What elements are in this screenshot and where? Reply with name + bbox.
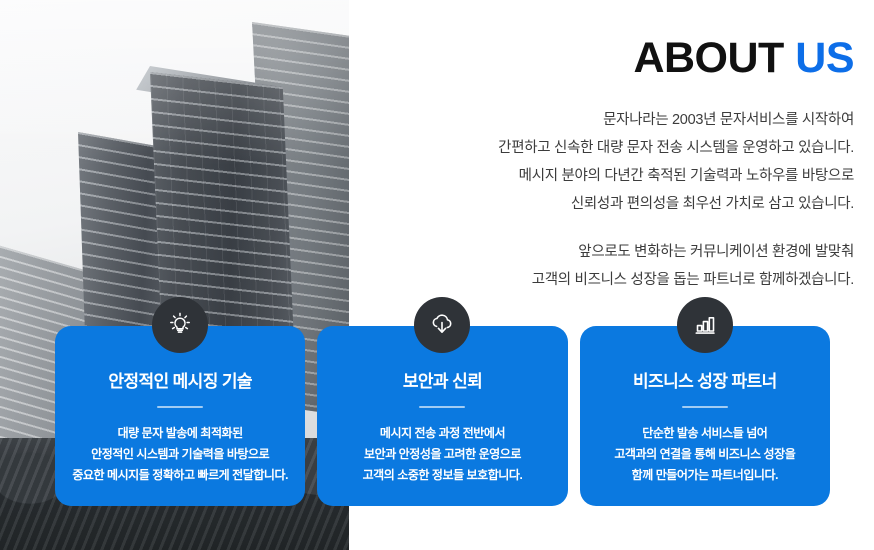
page-title: ABOUT US — [392, 36, 854, 81]
headline-part-one: ABOUT — [633, 34, 783, 82]
headline-part-two: US — [795, 34, 854, 82]
feature-card-body: 메시지 전송 과정 전반에서 보안과 안정성을 고려한 운영으로 고객의 소중한… — [331, 423, 553, 486]
card-divider — [682, 406, 728, 408]
intro-paragraph-2: 앞으로도 변화하는 커뮤니케이션 환경에 발맞춰 고객의 비즈니스 성장을 돕는… — [392, 239, 854, 295]
feature-card-body: 단순한 발송 서비스들 넘어 고객과의 연결을 통해 비즈니스 성장을 함께 만… — [594, 423, 816, 486]
card3-line-2: 고객과의 연결을 통해 비즈니스 성장을 — [594, 444, 816, 465]
feature-card-growth[interactable]: 비즈니스 성장 파트너 단순한 발송 서비스들 넘어 고객과의 연결을 통해 비… — [580, 326, 830, 506]
card-divider — [157, 406, 203, 408]
card2-line-3: 고객의 소중한 정보들 보호합니다. — [331, 465, 553, 486]
card1-line-2: 안정적인 시스템과 기술력을 바탕으로 — [69, 444, 291, 465]
card2-line-1: 메시지 전송 과정 전반에서 — [331, 423, 553, 444]
intro-p1-line-3: 메시지 분야의 다년간 축적된 기술력과 노하우를 바탕으로 — [392, 163, 854, 191]
card1-line-3: 중요한 메시지들 정확하고 빠르게 전달합니다. — [69, 465, 291, 486]
feature-card-title: 안정적인 메시징 기술 — [69, 372, 291, 392]
card-divider — [419, 406, 465, 408]
card3-line-3: 함께 만들어가는 파트너입니다. — [594, 465, 816, 486]
intro-p1-line-2: 간편하고 신속한 대량 문자 전송 시스템을 운영하고 있습니다. — [392, 135, 854, 163]
intro-p2-line-1: 앞으로도 변화하는 커뮤니케이션 환경에 발맞춰 — [392, 239, 854, 267]
card2-line-2: 보안과 안정성을 고려한 운영으로 — [331, 444, 553, 465]
feature-card-security[interactable]: 보안과 신뢰 메시지 전송 과정 전반에서 보안과 안정성을 고려한 운영으로 … — [317, 326, 567, 506]
intro-copy: ABOUT US 문자나라는 2003년 문자서비스를 시작하여 간편하고 신속… — [392, 36, 854, 295]
bar-chart-icon — [677, 297, 733, 353]
feature-card-messaging[interactable]: 안정적인 메시징 기술 대량 문자 발송에 최적화된 안정적인 시스템과 기술력… — [55, 326, 305, 506]
feature-card-title: 보안과 신뢰 — [331, 372, 553, 392]
intro-p1-line-1: 문자나라는 2003년 문자서비스를 시작하여 — [392, 107, 854, 135]
card1-line-1: 대량 문자 발송에 최적화된 — [69, 423, 291, 444]
cloud-download-icon — [414, 297, 470, 353]
feature-card-list: 안정적인 메시징 기술 대량 문자 발송에 최적화된 안정적인 시스템과 기술력… — [55, 326, 830, 506]
intro-paragraph-1: 문자나라는 2003년 문자서비스를 시작하여 간편하고 신속한 대량 문자 전… — [392, 107, 854, 219]
card3-line-1: 단순한 발송 서비스들 넘어 — [594, 423, 816, 444]
lightbulb-icon — [152, 297, 208, 353]
intro-p1-line-4: 신뢰성과 편의성을 최우선 가치로 삼고 있습니다. — [392, 191, 854, 219]
intro-p2-line-2: 고객의 비즈니스 성장을 돕는 파트너로 함께하겠습니다. — [392, 267, 854, 295]
feature-card-body: 대량 문자 발송에 최적화된 안정적인 시스템과 기술력을 바탕으로 중요한 메… — [69, 423, 291, 486]
about-us-section: ABOUT US 문자나라는 2003년 문자서비스를 시작하여 간편하고 신속… — [0, 0, 874, 550]
feature-card-title: 비즈니스 성장 파트너 — [594, 372, 816, 392]
